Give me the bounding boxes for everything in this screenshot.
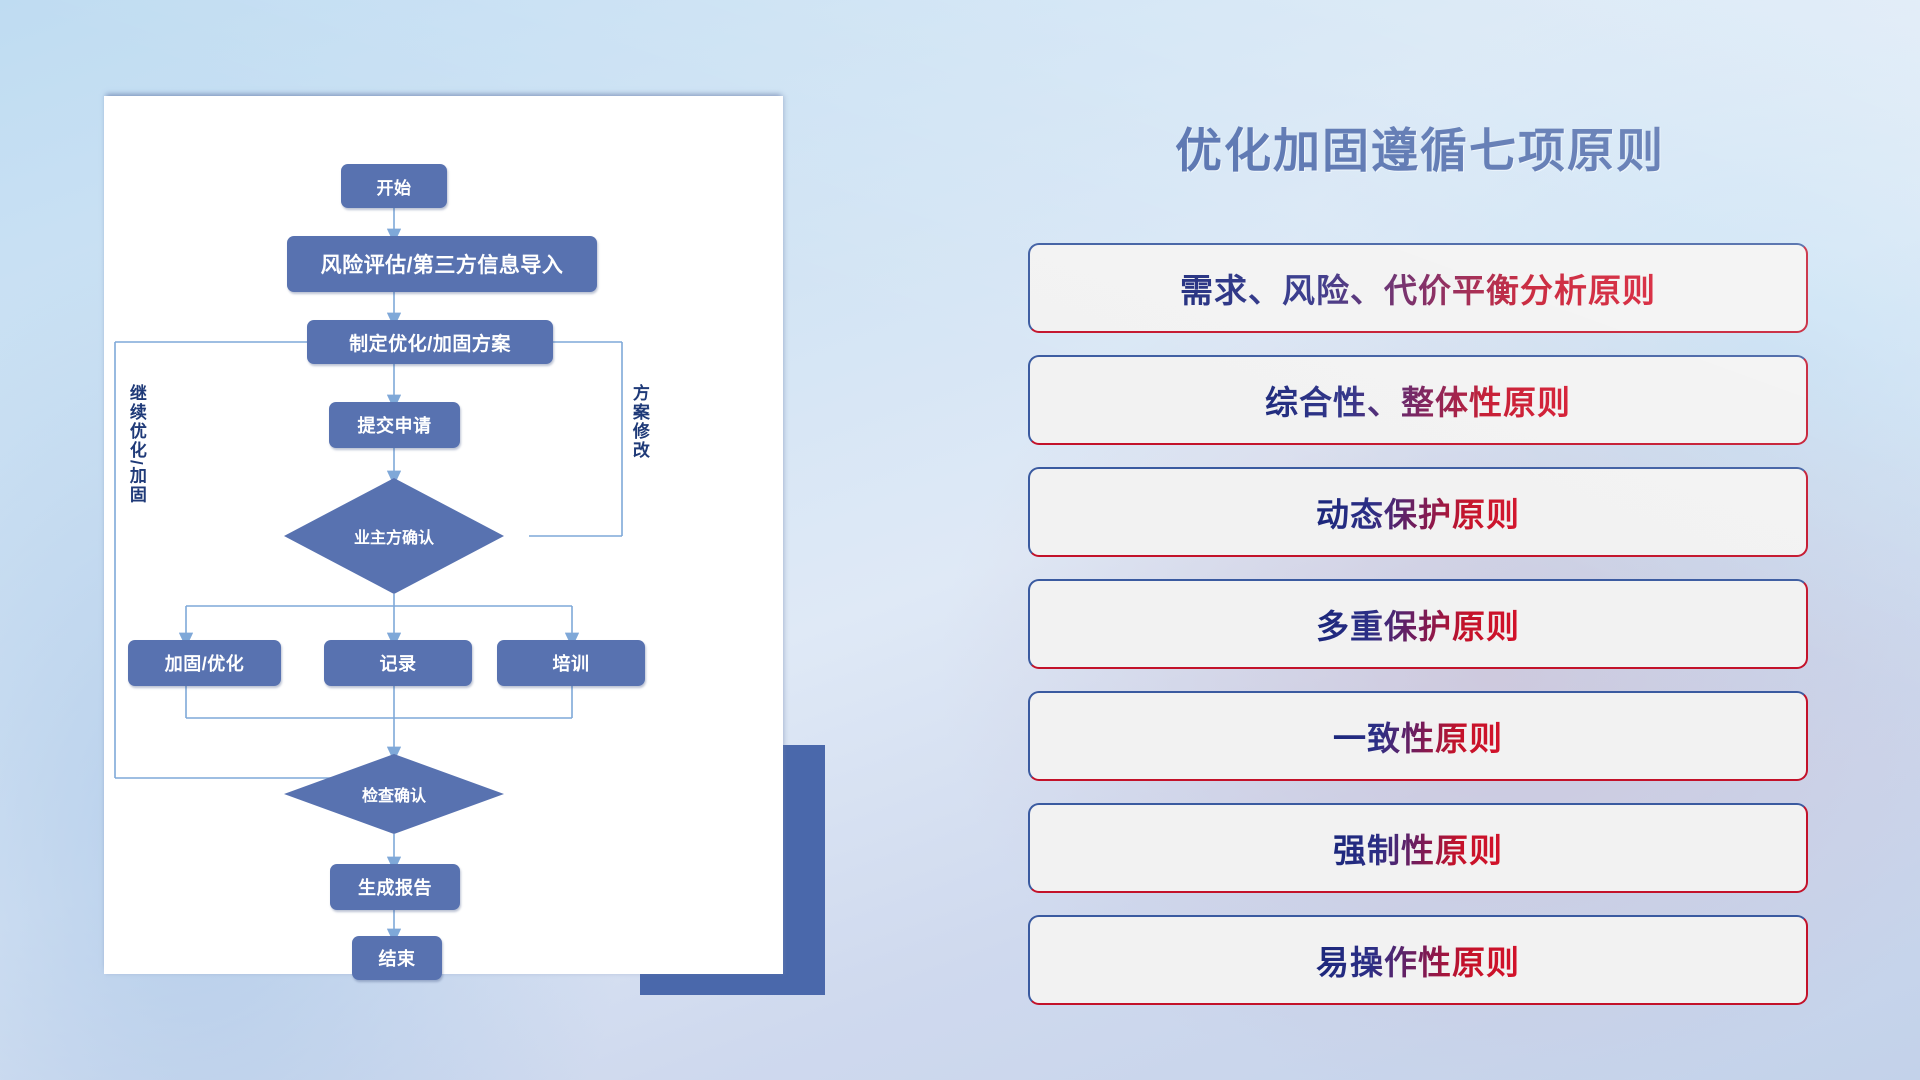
principle-item-2[interactable]: 综合性、整体性原则 bbox=[1028, 355, 1808, 445]
node-end[interactable]: 结束 bbox=[352, 936, 442, 980]
decision-owner-confirm: 业主方确认 bbox=[284, 478, 504, 594]
node-risk-assessment-label: 风险评估/第三方信息导入 bbox=[321, 249, 564, 279]
node-reinforce-optimize[interactable]: 加固/优化 bbox=[128, 640, 281, 686]
edge-label-plan-revision: 方案修改 bbox=[630, 384, 648, 460]
principle-label: 多重保护原则 bbox=[1316, 600, 1520, 648]
decision-owner-confirm-label: 业主方确认 bbox=[354, 524, 434, 548]
node-record-label: 记录 bbox=[380, 650, 417, 676]
principle-label: 动态保护原则 bbox=[1316, 488, 1520, 536]
node-submit-application-label: 提交申请 bbox=[358, 412, 432, 438]
principle-item-5[interactable]: 一致性原则 bbox=[1028, 691, 1808, 781]
node-start-label: 开始 bbox=[377, 174, 412, 199]
node-generate-report[interactable]: 生成报告 bbox=[330, 864, 460, 910]
decision-check-confirm-label: 检查确认 bbox=[362, 782, 426, 806]
edge-label-continue-optimize: 继续优化/加固 bbox=[127, 384, 145, 505]
node-risk-assessment[interactable]: 风险评估/第三方信息导入 bbox=[287, 236, 597, 292]
flowchart: 业主方确认 检查确认 开始 风险评估/第三方信息导入 制定优化/加固方案 提交申… bbox=[104, 96, 783, 974]
panel-title: 优化加固遵循七项原则 bbox=[1020, 112, 1820, 181]
node-record[interactable]: 记录 bbox=[324, 640, 472, 686]
principle-item-1[interactable]: 需求、风险、代价平衡分析原则 bbox=[1028, 243, 1808, 333]
node-reinforce-optimize-label: 加固/优化 bbox=[165, 650, 245, 676]
decision-check-confirm: 检查确认 bbox=[284, 754, 504, 834]
principle-label: 一致性原则 bbox=[1333, 712, 1503, 760]
principle-item-3[interactable]: 动态保护原则 bbox=[1028, 467, 1808, 557]
node-training-label: 培训 bbox=[553, 650, 590, 676]
principle-item-7[interactable]: 易操作性原则 bbox=[1028, 915, 1808, 1005]
node-make-plan-label: 制定优化/加固方案 bbox=[349, 329, 511, 356]
flowchart-card: 业主方确认 检查确认 开始 风险评估/第三方信息导入 制定优化/加固方案 提交申… bbox=[104, 96, 783, 974]
principle-item-6[interactable]: 强制性原则 bbox=[1028, 803, 1808, 893]
node-make-plan[interactable]: 制定优化/加固方案 bbox=[307, 320, 553, 364]
principle-item-4[interactable]: 多重保护原则 bbox=[1028, 579, 1808, 669]
node-start[interactable]: 开始 bbox=[341, 164, 447, 208]
node-generate-report-label: 生成报告 bbox=[358, 874, 432, 900]
principle-label: 强制性原则 bbox=[1333, 824, 1503, 872]
principle-label: 需求、风险、代价平衡分析原则 bbox=[1180, 264, 1656, 312]
node-training[interactable]: 培训 bbox=[497, 640, 645, 686]
node-end-label: 结束 bbox=[379, 945, 416, 971]
principles-list: 需求、风险、代价平衡分析原则 综合性、整体性原则 动态保护原则 多重保护原则 一… bbox=[1028, 243, 1808, 1027]
slide-background: 业主方确认 检查确认 开始 风险评估/第三方信息导入 制定优化/加固方案 提交申… bbox=[0, 0, 1920, 1080]
principle-label: 易操作性原则 bbox=[1316, 936, 1520, 984]
node-submit-application[interactable]: 提交申请 bbox=[329, 402, 460, 448]
principle-label: 综合性、整体性原则 bbox=[1265, 376, 1571, 424]
